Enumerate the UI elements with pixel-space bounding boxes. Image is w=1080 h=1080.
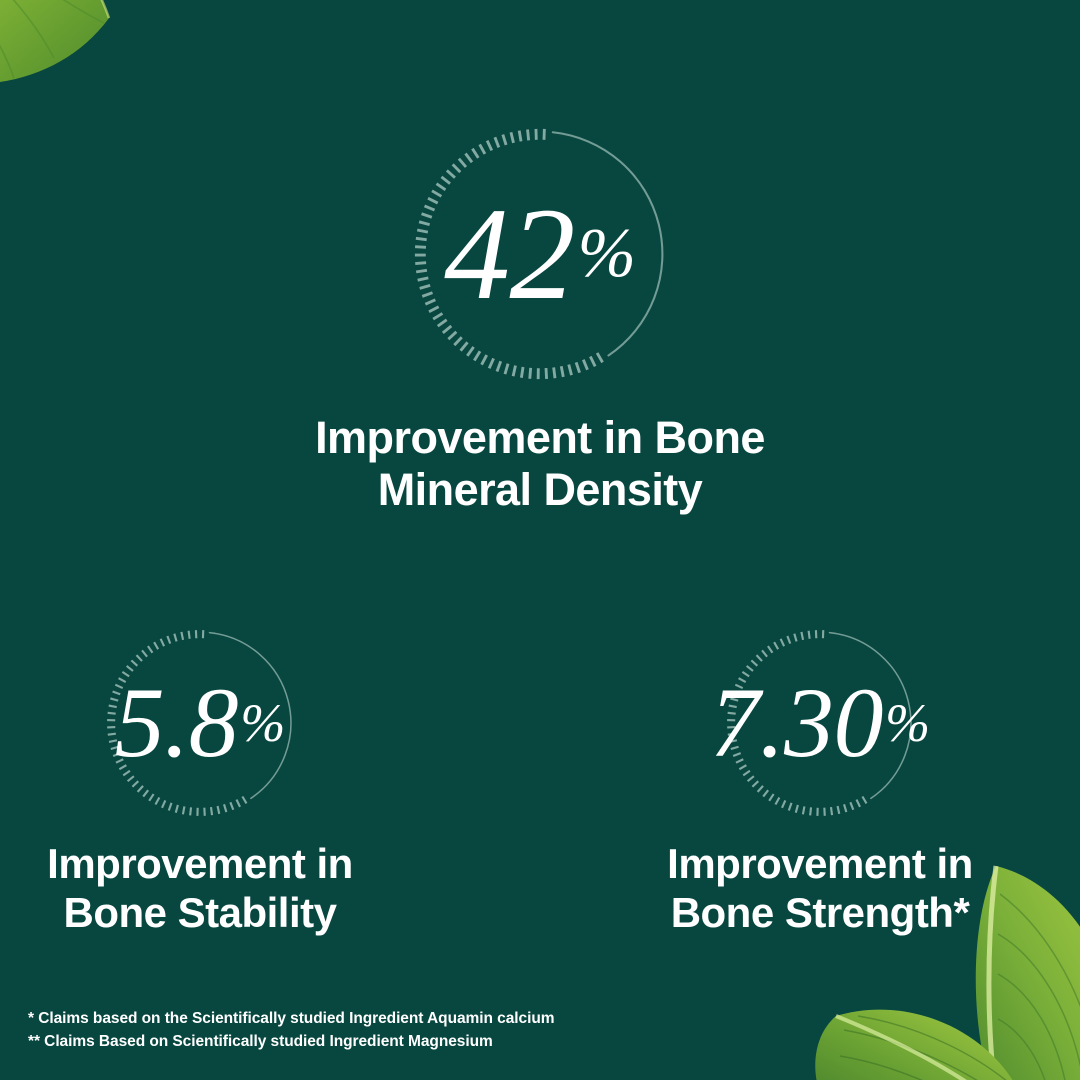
- stat-number: 42: [444, 188, 575, 320]
- footnotes: * Claims based on the Scientifically stu…: [28, 1007, 554, 1054]
- footnote-line: ** Claims Based on Scientifically studie…: [28, 1030, 554, 1054]
- stat-bone-strength: 7.30% Improvement in Bone Strength*: [620, 622, 1020, 937]
- progress-ring-bone-mineral-density: 42%: [404, 118, 676, 390]
- stat-bone-stability: 5.8% Improvement in Bone Stability: [0, 622, 400, 937]
- stat-bone-mineral-density: 42% Improvement in Bone Mineral Density: [0, 118, 1080, 516]
- percent-symbol: %: [578, 219, 636, 289]
- stat-label-bone-mineral-density: Improvement in Bone Mineral Density: [0, 412, 1080, 516]
- stat-label-bone-strength: Improvement in Bone Strength*: [620, 840, 1020, 937]
- infographic-canvas: 42% Improvement in Bone Mineral Density …: [0, 0, 1080, 1080]
- stat-number: 5.8: [115, 673, 239, 773]
- stat-value-bone-strength: 7.30%: [719, 622, 921, 824]
- stat-value-bone-stability: 5.8%: [99, 622, 301, 824]
- stat-label-bone-stability: Improvement in Bone Stability: [0, 840, 400, 937]
- percent-symbol: %: [240, 696, 285, 750]
- progress-ring-bone-stability: 5.8%: [99, 622, 301, 824]
- footnote-line: * Claims based on the Scientifically stu…: [28, 1007, 554, 1031]
- stat-number: 7.30: [710, 673, 883, 773]
- progress-ring-bone-strength: 7.30%: [719, 622, 921, 824]
- stat-value-bone-mineral-density: 42%: [404, 118, 676, 390]
- percent-symbol: %: [885, 696, 930, 750]
